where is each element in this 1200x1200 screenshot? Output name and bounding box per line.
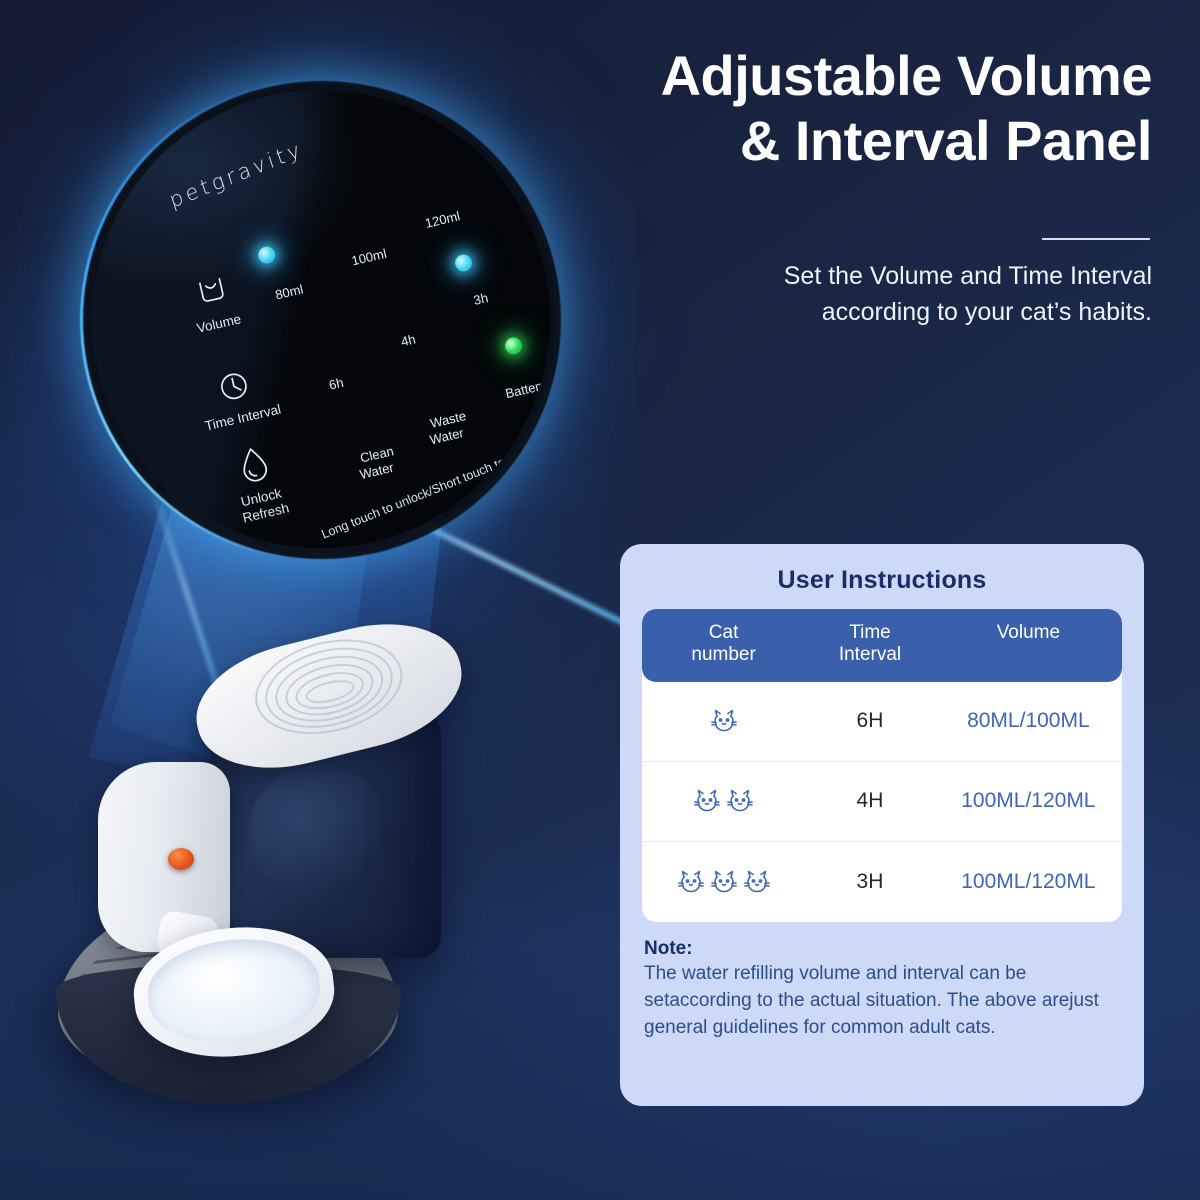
- subtitle-line-2: according to your cat’s habits.: [632, 294, 1152, 330]
- time-interval-line2: Interval: [805, 644, 935, 666]
- volume-option-120ml[interactable]: 120ml: [424, 208, 462, 231]
- time-interval-line1: Time: [805, 622, 935, 644]
- cat-face-icon: [709, 868, 739, 896]
- cat-face-icon: [676, 868, 706, 896]
- power-button[interactable]: [168, 848, 194, 870]
- table-row: 3H 100ML/120ML: [642, 842, 1122, 922]
- cat-count-cell: [642, 787, 805, 815]
- interval-option-3h[interactable]: 3h: [472, 290, 489, 308]
- volume-value: 100ML/120ML: [935, 870, 1122, 894]
- battery-led[interactable]: [503, 336, 523, 356]
- volume-led[interactable]: [257, 245, 277, 265]
- time-interval-label: Time Interval: [203, 402, 282, 434]
- bowl-icon: [191, 270, 232, 311]
- page-title: Adjustable Volume & Interval Panel: [532, 44, 1152, 174]
- volume-value: 100ML/120ML: [935, 789, 1122, 813]
- note-title: Note:: [644, 938, 1120, 960]
- cat-face-icon: [725, 787, 755, 815]
- title-divider: [1042, 238, 1150, 240]
- page-subtitle: Set the Volume and Time Interval accordi…: [632, 258, 1152, 331]
- table-row: 6H 80ML/100ML: [642, 682, 1122, 762]
- cat-number-line1: Cat: [642, 622, 805, 644]
- volume-label: Volume: [195, 311, 242, 336]
- column-header-volume: Volume: [935, 622, 1122, 667]
- brand-logo: petgravity: [167, 111, 374, 228]
- product-marketing-image: petgravity Volume 80ml 100ml 120ml Time …: [0, 0, 1200, 1200]
- interval-value: 3H: [805, 870, 935, 894]
- water-drop-icon: [233, 441, 275, 486]
- interval-value: 4H: [805, 789, 935, 813]
- panel-content: petgravity Volume 80ml 100ml 120ml Time …: [88, 86, 554, 552]
- column-header-time-interval: Time Interval: [805, 622, 935, 667]
- cat-number-line2: number: [642, 644, 805, 666]
- table-header-row: Cat number Time Interval Volume: [642, 609, 1122, 682]
- volume-option-100ml[interactable]: 100ml: [350, 246, 388, 269]
- panel-hint-text: Long touch to unlock/Short touch to refr…: [319, 439, 546, 542]
- card-title: User Instructions: [620, 566, 1144, 595]
- pet-water-fountain-device: [46, 612, 546, 1152]
- table-row: 4H 100ML/120ML: [642, 762, 1122, 842]
- cat-face-icon: [692, 787, 722, 815]
- control-panel[interactable]: petgravity Volume 80ml 100ml 120ml Time …: [88, 86, 554, 552]
- interval-value: 6H: [805, 709, 935, 733]
- clock-icon: [214, 366, 255, 407]
- time-interval-led[interactable]: [453, 253, 473, 273]
- interval-option-4h[interactable]: 4h: [400, 331, 417, 349]
- volume-value: 80ML/100ML: [935, 709, 1122, 733]
- interval-option-6h[interactable]: 6h: [327, 375, 344, 393]
- instructions-table: Cat number Time Interval Volume: [642, 609, 1122, 922]
- column-header-cat-number: Cat number: [642, 622, 805, 667]
- headline-line-1: Adjustable Volume: [532, 44, 1152, 109]
- subtitle-line-1: Set the Volume and Time Interval: [632, 258, 1152, 294]
- cat-face-icon: [742, 868, 772, 896]
- headline-line-2: & Interval Panel: [532, 109, 1152, 174]
- note-section: Note: The water refilling volume and int…: [644, 938, 1120, 1042]
- cat-face-icon: [709, 707, 739, 735]
- user-instructions-card: User Instructions Cat number Time Interv…: [620, 544, 1144, 1106]
- note-body: The water refilling volume and interval …: [644, 961, 1120, 1042]
- volume-option-80ml[interactable]: 80ml: [274, 281, 305, 302]
- cat-count-cell: [642, 868, 805, 896]
- battery-label: Battery: [504, 377, 548, 401]
- bowl-water: [143, 931, 325, 1050]
- cat-count-cell: [642, 707, 805, 735]
